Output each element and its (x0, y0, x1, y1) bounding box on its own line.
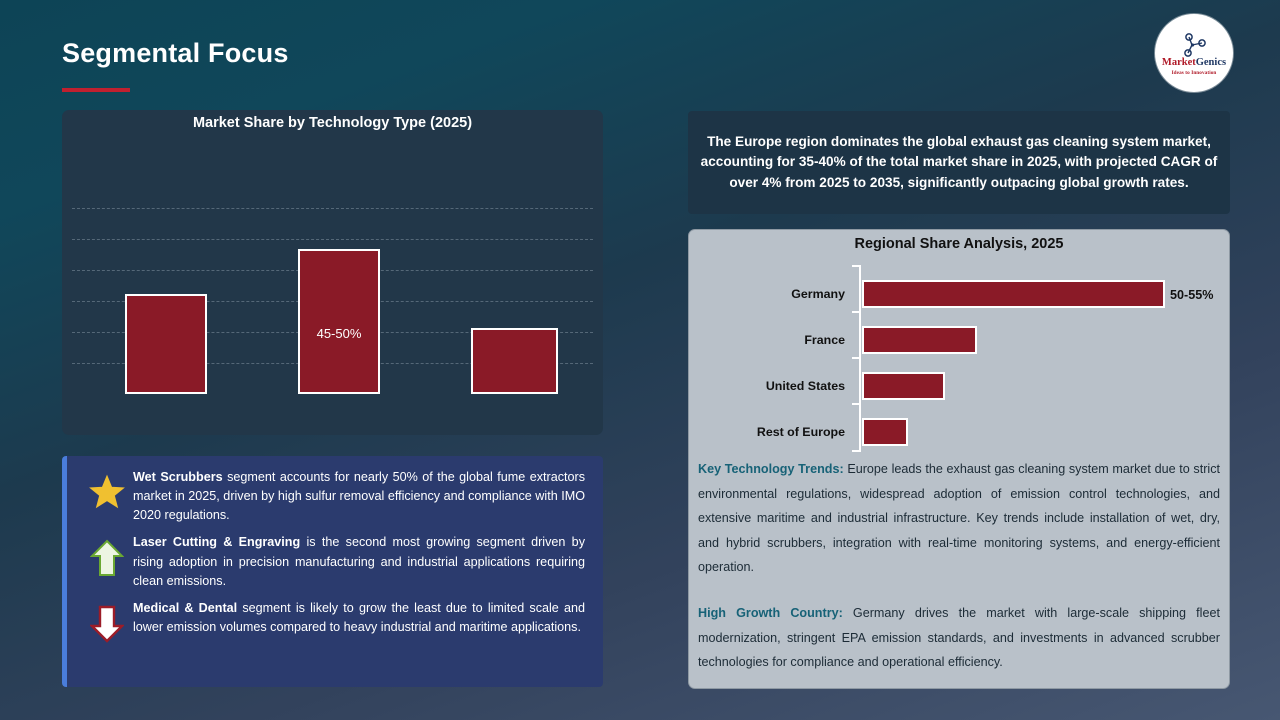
bar-value-germany: 50-55% (1170, 288, 1213, 302)
bar-hybrid-scrubbers (471, 328, 558, 394)
high-growth-country-heading: High Growth Country: (698, 606, 843, 620)
insight-lead-2: Laser Cutting & Engraving (133, 535, 300, 549)
regional-chart-y-axis (859, 265, 861, 452)
bar-france (862, 326, 977, 354)
arrow-down-icon-wrap (81, 599, 133, 643)
list-item: Wet Scrubbers segment accounts for nearl… (81, 468, 591, 525)
arrow-down-icon (90, 605, 124, 643)
regional-chart-title: Regional Share Analysis, 2025 (689, 230, 1229, 252)
technology-chart-title: Market Share by Technology Type (2025) (62, 110, 603, 131)
title-underline-accent (62, 88, 130, 92)
region-callout-box: The Europe region dominates the global e… (688, 111, 1230, 214)
insight-text-1: Wet Scrubbers segment accounts for nearl… (133, 468, 591, 525)
axis-label-united-states: United States (700, 379, 845, 393)
logo-tagline: Ideas to Innovation (1172, 70, 1217, 76)
axis-tick (852, 403, 859, 405)
network-nodes-icon (1179, 31, 1209, 57)
high-growth-country-paragraph: High Growth Country: Germany drives the … (698, 601, 1220, 675)
bar-value-wet-scrubbers: 45-50% (288, 326, 390, 341)
bar-rest-of-europe (862, 418, 908, 446)
technology-share-chart-card: Market Share by Technology Type (2025) 4… (62, 110, 603, 435)
gridline (72, 208, 593, 209)
arrow-up-icon-wrap (81, 533, 133, 577)
bar-wet-scrubbers (298, 249, 380, 394)
technology-chart-plot-area (72, 146, 593, 394)
list-item: Laser Cutting & Engraving is the second … (81, 533, 591, 590)
company-logo: MarketGenics Ideas to Innovation (1155, 14, 1233, 92)
list-item: Medical & Dental segment is likely to gr… (81, 599, 591, 643)
page-title: Segmental Focus (62, 38, 289, 69)
gridline (72, 239, 593, 240)
axis-tick (852, 450, 859, 452)
insight-text-3: Medical & Dental segment is likely to gr… (133, 599, 591, 637)
bar-germany (862, 280, 1165, 308)
bar-united-states (862, 372, 945, 400)
axis-tick (852, 311, 859, 313)
insight-lead-3: Medical & Dental (133, 601, 237, 615)
insight-text-2: Laser Cutting & Engraving is the second … (133, 533, 591, 590)
insight-lead-1: Wet Scrubbers (133, 470, 223, 484)
star-icon (89, 474, 125, 510)
axis-tick (852, 265, 859, 267)
key-technology-trends-heading: Key Technology Trends: (698, 462, 844, 476)
region-callout-text: The Europe region dominates the global e… (698, 132, 1220, 192)
axis-label-germany: Germany (700, 287, 845, 301)
axis-label-france: France (700, 333, 845, 347)
axis-label-rest-of-europe: Rest of Europe (700, 425, 845, 439)
segment-insights-panel: Wet Scrubbers segment accounts for nearl… (62, 456, 603, 687)
key-technology-trends-body: Europe leads the exhaust gas cleaning sy… (698, 462, 1220, 574)
logo-brand-name: MarketGenics (1162, 58, 1226, 69)
key-technology-trends-paragraph: Key Technology Trends: Europe leads the … (698, 457, 1220, 580)
star-icon-wrap (81, 468, 133, 510)
bar-dry-scrubbers (125, 294, 207, 394)
arrow-up-icon (90, 539, 124, 577)
axis-tick (852, 357, 859, 359)
